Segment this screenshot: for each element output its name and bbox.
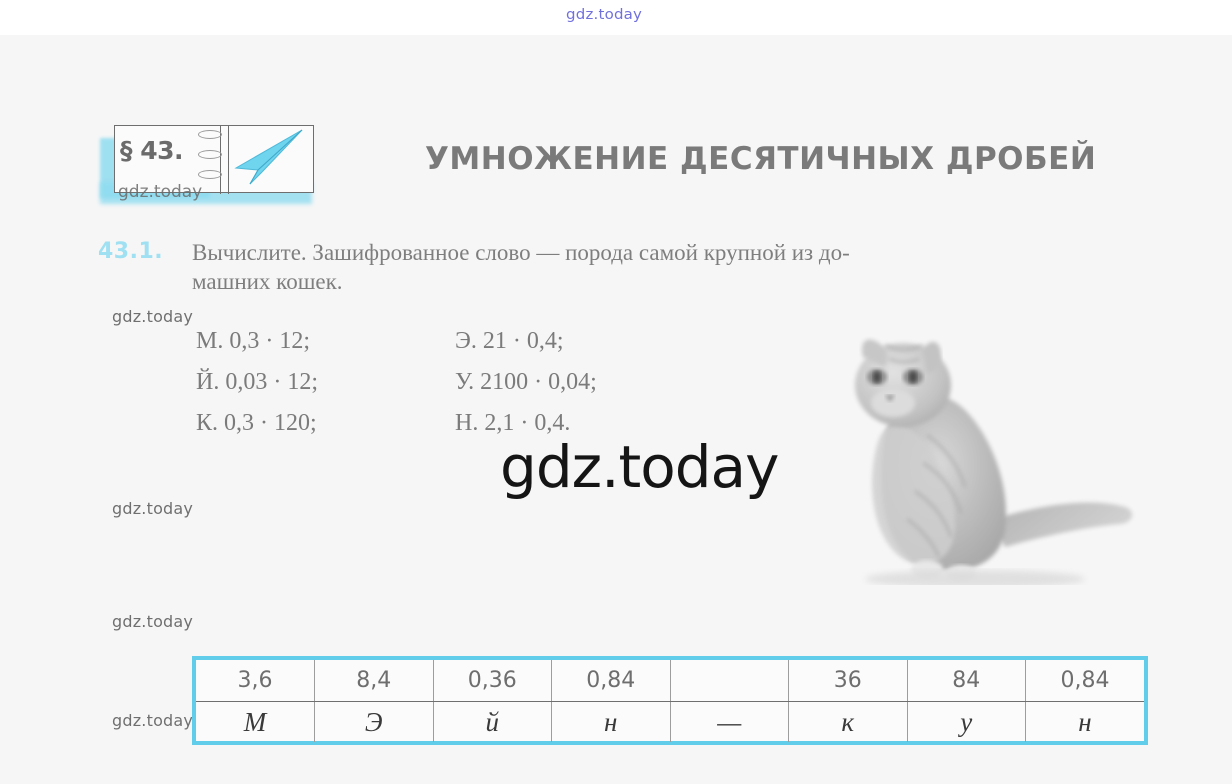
answer-value-cell: 3,6: [196, 660, 315, 702]
expression-right-3-letter: Н.: [455, 410, 478, 436]
answer-table: 3,6 8,4 0,36 0,84 36 84 0,84 М Э й н — к…: [192, 656, 1148, 745]
expression-right-2-body: 2100 · 0,04;: [480, 369, 597, 395]
answer-letter-cell: Э: [315, 702, 434, 743]
paper-plane-icon: [228, 126, 308, 188]
textbook-page: § 43. gdz.today УМНОЖЕНИЕ ДЕСЯТИЧНЫХ ДРО…: [0, 35, 1232, 784]
expression-right-1-body: 21 · 0,4;: [483, 328, 564, 354]
watermark-small-1: gdz.today: [112, 307, 193, 326]
expression-right-2-letter: У.: [455, 369, 474, 395]
answer-table-letters-row: М Э й н — к у н: [196, 702, 1144, 743]
top-watermark: gdz.today: [566, 5, 642, 22]
answer-letter-cell: й: [433, 702, 552, 743]
section-badge-watermark: gdz.today: [118, 182, 202, 202]
cat-photo: [815, 315, 1175, 585]
answer-letter-cell: н: [1026, 702, 1145, 743]
answer-value-cell: 36: [789, 660, 908, 702]
answer-letter-cell: у: [907, 702, 1026, 743]
expression-left-1-body: 0,3 · 12;: [229, 328, 310, 354]
page-title: УМНОЖЕНИЕ ДЕСЯТИЧНЫХ ДРОБЕЙ: [425, 141, 1096, 177]
answer-value-cell: 0,84: [552, 660, 671, 702]
watermark-small-4: gdz.today: [112, 711, 193, 730]
watermark-small-2: gdz.today: [112, 499, 193, 518]
answer-letter-cell: к: [789, 702, 908, 743]
answer-value-cell: 0,84: [1026, 660, 1145, 702]
answer-value-cell: 8,4: [315, 660, 434, 702]
exercise-statement-line2: машних кошек.: [192, 267, 1152, 296]
expression-left-3-letter: К.: [196, 410, 218, 436]
notebook-rings-icon: [198, 128, 222, 182]
answer-letter-cell: —: [670, 702, 789, 743]
expression-right-1-letter: Э.: [455, 328, 477, 354]
expression-left-3-body: 0,3 · 120;: [224, 410, 317, 436]
answer-letter-cell: н: [552, 702, 671, 743]
exercise-statement-line1: Вычислите. Зашифрованное слово — порода …: [192, 240, 850, 265]
watermark-center: gdz.today: [500, 433, 778, 501]
expression-right-1: Э. 21 · 0,4;: [455, 328, 564, 355]
section-header: § 43. gdz.today УМНОЖЕНИЕ ДЕСЯТИЧНЫХ ДРО…: [100, 120, 1150, 220]
exercise-statement: Вычислите. Зашифрованное слово — порода …: [192, 238, 1152, 296]
expression-left-1: М. 0,3 · 12;: [196, 328, 310, 355]
section-number: § 43.: [120, 136, 183, 165]
top-white-strip: gdz.today: [0, 0, 1232, 35]
exercise-number: 43.1.: [98, 239, 163, 264]
expression-left-3: К. 0,3 · 120;: [196, 410, 317, 437]
answer-table-values-row: 3,6 8,4 0,36 0,84 36 84 0,84: [196, 660, 1144, 702]
answer-value-cell: [670, 660, 789, 702]
expression-left-2-letter: Й.: [196, 369, 219, 395]
expression-right-2: У. 2100 · 0,04;: [455, 369, 597, 396]
answer-value-cell: 0,36: [433, 660, 552, 702]
expression-left-1-letter: М.: [196, 328, 223, 354]
watermark-small-3: gdz.today: [112, 612, 193, 631]
answer-letter-cell: М: [196, 702, 315, 743]
expression-left-2: Й. 0,03 · 12;: [196, 369, 318, 396]
expression-left-2-body: 0,03 · 12;: [225, 369, 318, 395]
answer-value-cell: 84: [907, 660, 1026, 702]
